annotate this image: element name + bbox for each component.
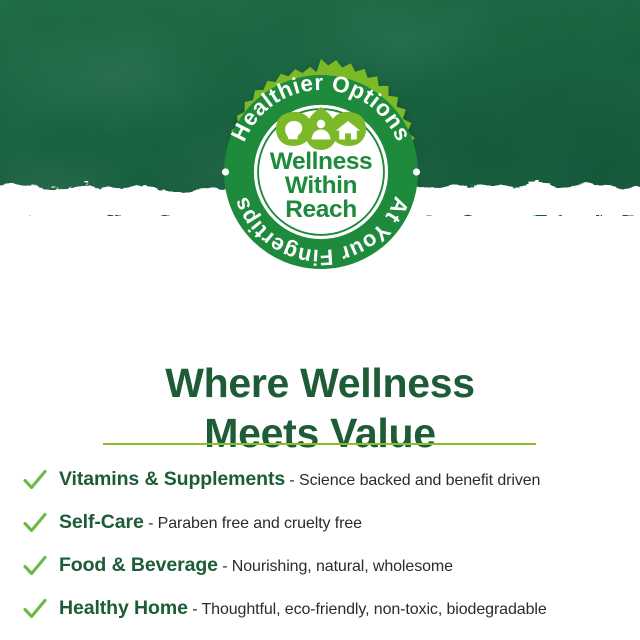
headline-line-1: Where Wellness (0, 359, 640, 408)
list-item-text: Vitamins & Supplements - Science backed … (59, 468, 540, 491)
list-item-text: Self-Care - Paraben free and cruelty fre… (59, 511, 362, 534)
list-item: Self-Care - Paraben free and cruelty fre… (22, 501, 634, 544)
list-item-separator: - (188, 601, 202, 618)
badge-dot-left (222, 168, 229, 175)
badge-center-line-1: Wellness (270, 148, 373, 175)
list-item-title: Self-Care (59, 511, 144, 533)
list-item-description: Nourishing, natural, wholesome (232, 558, 453, 575)
check-icon (22, 553, 48, 579)
list-item-separator: - (218, 558, 232, 575)
wellness-badge: Healthier Options At Your Fingertips (208, 59, 434, 285)
list-item: Vitamins & Supplements - Science backed … (22, 458, 634, 501)
list-item-title: Food & Beverage (59, 554, 218, 576)
list-item-description: Paraben free and cruelty free (158, 515, 362, 532)
divider (103, 443, 536, 445)
badge-center-line-2: Within (285, 172, 357, 199)
feature-list: Vitamins & Supplements - Science backed … (22, 458, 634, 630)
list-item: Healthy Home - Thoughtful, eco-friendly,… (22, 587, 634, 630)
list-item-title: Healthy Home (59, 597, 188, 619)
badge-icon-group (276, 107, 366, 150)
check-icon (22, 596, 48, 622)
check-icon (22, 467, 48, 493)
list-item-text: Healthy Home - Thoughtful, eco-friendly,… (59, 597, 547, 620)
badge-dot-right (413, 168, 420, 175)
list-item-separator: - (285, 472, 299, 489)
list-item-text: Food & Beverage - Nourishing, natural, w… (59, 554, 453, 577)
list-item-description: Science backed and benefit driven (299, 472, 540, 489)
list-item-title: Vitamins & Supplements (59, 468, 285, 490)
badge-center-line-3: Reach (285, 196, 357, 223)
promo-banner: Healthier Options At Your Fingertips (0, 0, 640, 640)
check-icon (22, 510, 48, 536)
headline-line-2: Meets Value (0, 409, 640, 458)
list-item: Food & Beverage - Nourishing, natural, w… (22, 544, 634, 587)
list-item-separator: - (144, 515, 158, 532)
leaf-house-icon (330, 112, 366, 146)
list-item-description: Thoughtful, eco-friendly, non-toxic, bio… (201, 601, 546, 618)
